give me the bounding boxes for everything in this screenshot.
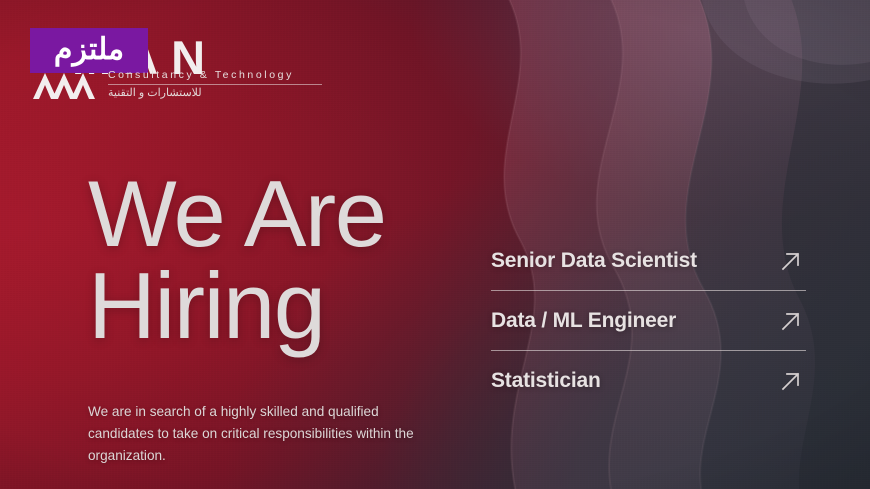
intro-paragraph: We are in search of a highly skilled and… [88, 401, 438, 467]
job-title: Senior Data Scientist [491, 249, 697, 273]
brand-arabic-badge: ملتزم [30, 28, 148, 73]
brand-tagline-rule [108, 84, 322, 85]
brand-tagline-ar: للاستشارات و التقنية [108, 88, 202, 99]
m-monogram-icon [32, 70, 110, 100]
headline-line-1: We Are [88, 168, 386, 260]
job-title: Statistician [491, 369, 601, 393]
job-openings-list: Senior Data Scientist Data / ML Engineer… [491, 231, 806, 411]
job-item-senior-data-scientist[interactable]: Senior Data Scientist [491, 231, 806, 291]
arrow-up-right-icon[interactable] [776, 306, 806, 336]
hiring-poster: MAN ملتزم Consultancy & Technology للاست… [0, 0, 870, 489]
page-title: We Are Hiring [88, 168, 386, 352]
job-item-statistician[interactable]: Statistician [491, 351, 806, 411]
brand-tagline-en: Consultancy & Technology [108, 70, 294, 81]
job-item-data-ml-engineer[interactable]: Data / ML Engineer [491, 291, 806, 351]
headline-line-2: Hiring [88, 260, 386, 352]
arrow-up-right-icon[interactable] [776, 366, 806, 396]
job-title: Data / ML Engineer [491, 309, 676, 333]
brand-arabic-badge-text: ملتزم [54, 35, 124, 65]
brand-logo: MAN ملتزم Consultancy & Technology للاست… [30, 22, 330, 102]
arrow-up-right-icon[interactable] [776, 246, 806, 276]
